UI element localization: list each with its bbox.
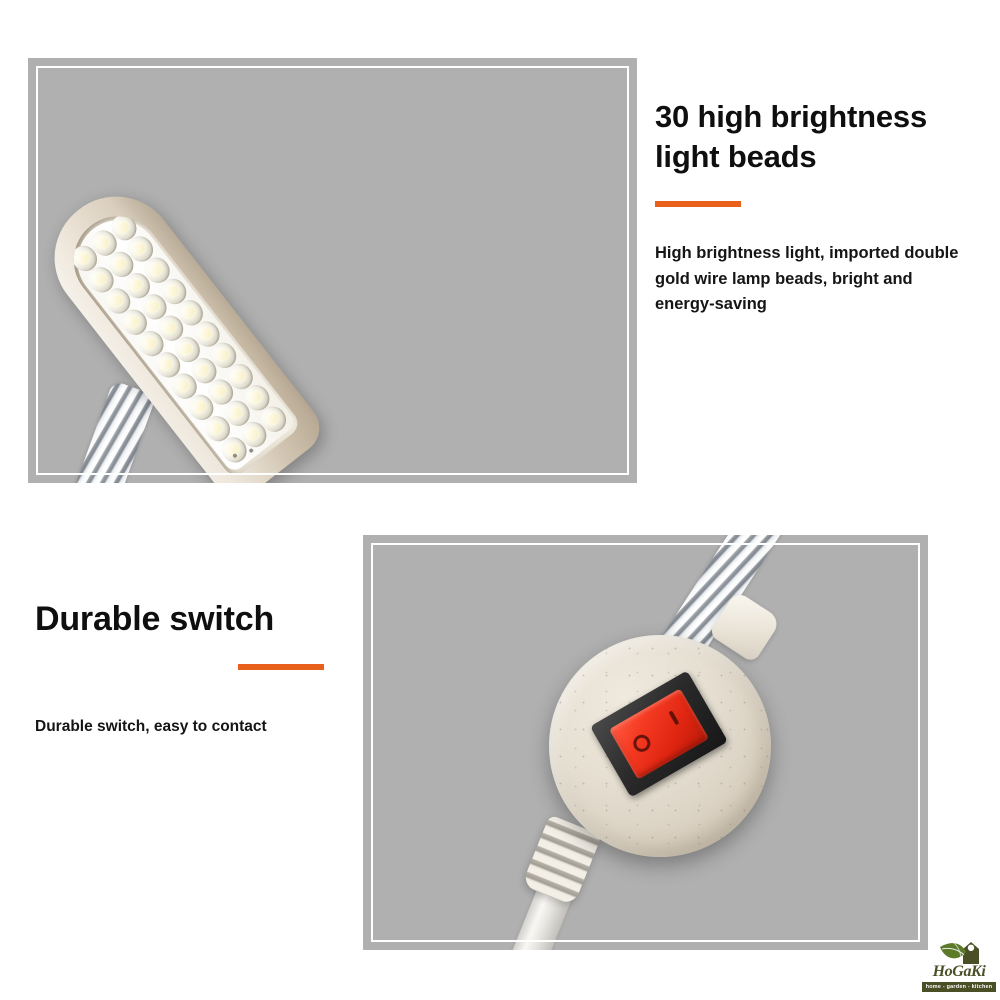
brand-tagline: home - garden - kitchen [922, 982, 996, 992]
rocker-switch[interactable] [590, 670, 728, 797]
brand-logo: HoGaKi home - garden - kitchen [922, 938, 996, 996]
gooseneck-tube [35, 380, 157, 483]
accent-bar [238, 664, 324, 670]
brand-wordmark: HoGaKi [922, 964, 996, 980]
switch-photo-stage [363, 535, 928, 950]
durable-switch-headline: Durable switch [35, 598, 355, 642]
leaf-house-icon [938, 938, 982, 965]
led-lamp-head [30, 172, 329, 483]
durable-switch-text-block: Durable switch Durable switch, easy to c… [35, 598, 355, 739]
led-beads-photo-panel [28, 58, 637, 483]
durable-switch-photo-panel [363, 535, 928, 950]
led-photo-stage [28, 58, 637, 483]
power-on-icon [668, 710, 679, 725]
durable-switch-body: Durable switch, easy to contact [35, 715, 355, 739]
power-off-icon [630, 732, 653, 755]
accent-bar [655, 201, 741, 207]
switch-housing-disc [549, 635, 771, 857]
led-beads-text-block: 30 high brightness light beads High brig… [655, 97, 975, 318]
led-beads-headline: 30 high brightness light beads [655, 97, 975, 176]
led-beads-body: High brightness light, imported double g… [655, 241, 975, 318]
